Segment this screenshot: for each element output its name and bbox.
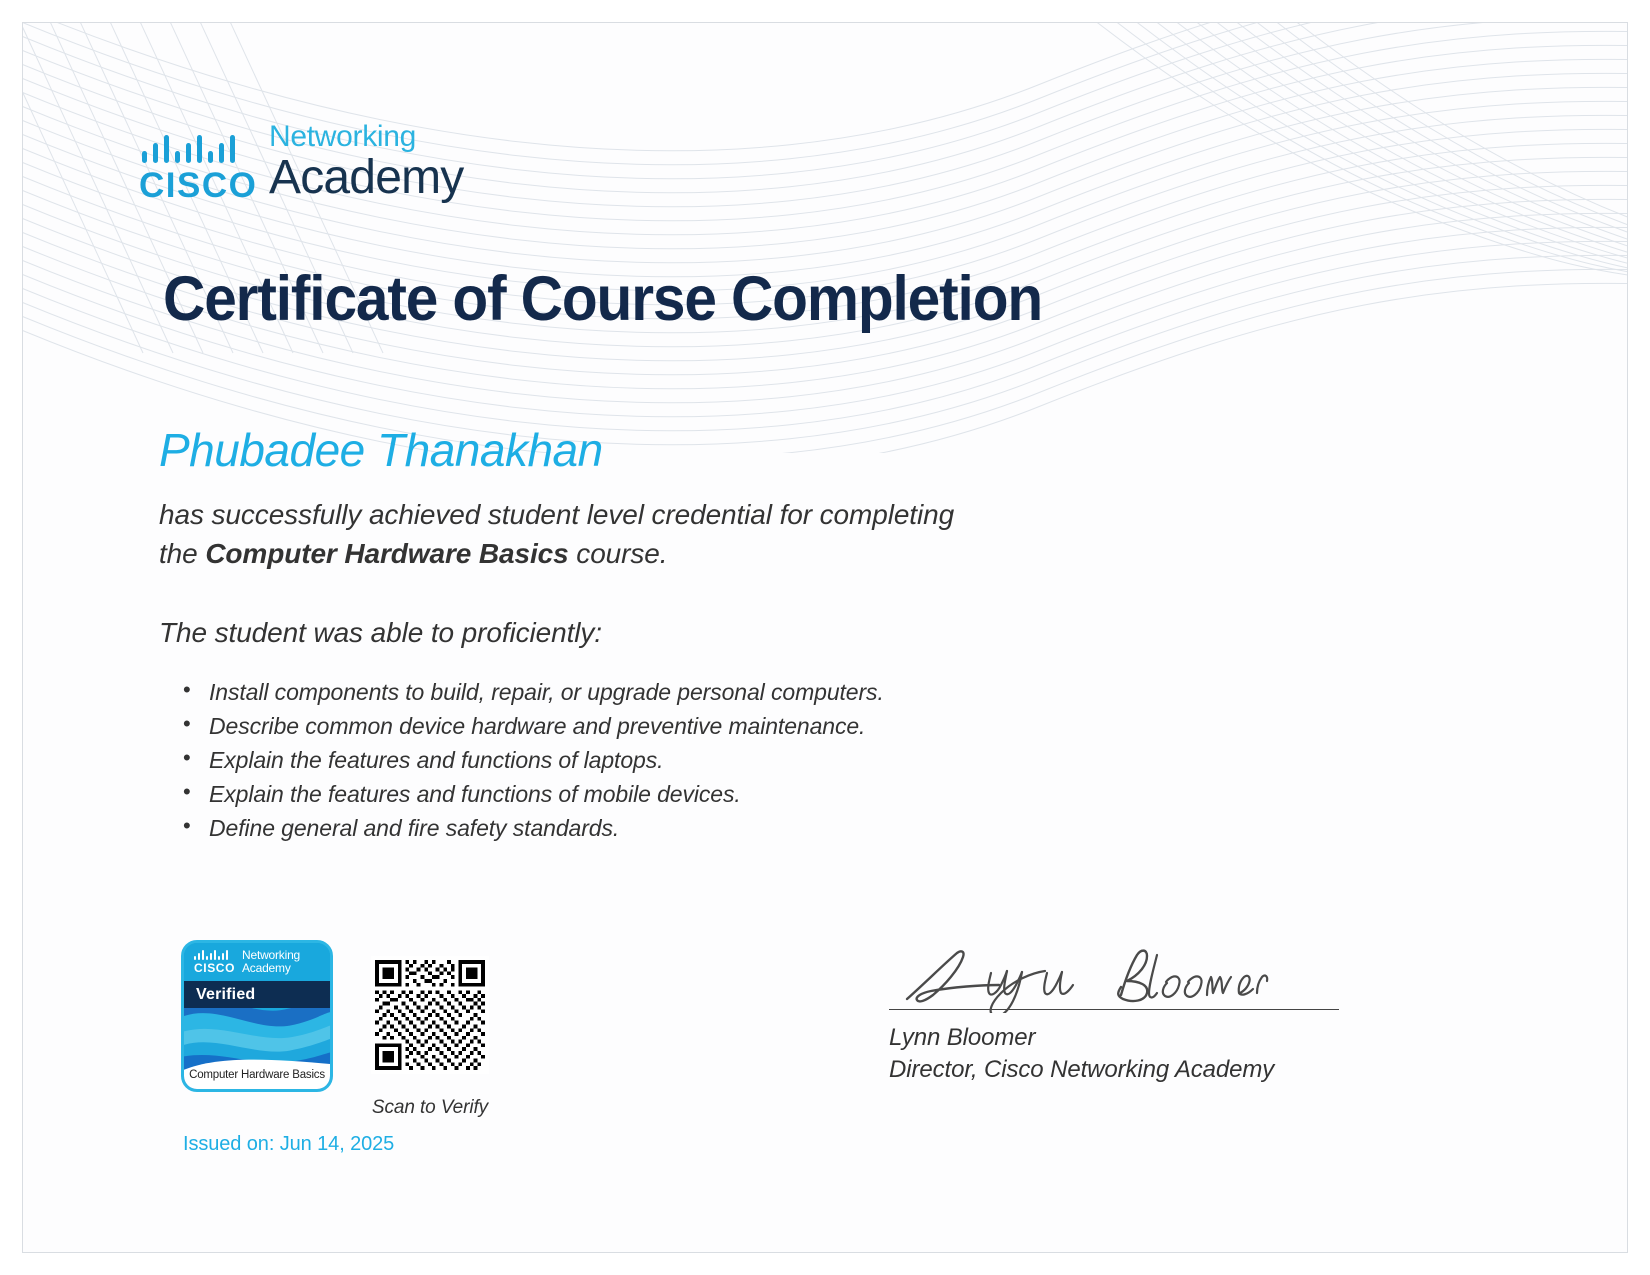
- list-item: Define general and fire safety standards…: [181, 811, 1259, 845]
- certificate-page: CISCO Networking Academy Certificate of …: [0, 0, 1650, 1275]
- achievement-line-2: the Computer Hardware Basics course.: [159, 535, 1259, 574]
- badge-academy-label: Academy: [242, 962, 300, 975]
- signatory-name: Lynn Bloomer: [889, 1024, 1339, 1052]
- signature-block: Lynn Bloomer Director, Cisco Networking …: [889, 943, 1339, 1084]
- list-item: Explain the features and functions of mo…: [181, 777, 1259, 811]
- scan-to-verify-label: Scan to Verify: [371, 1097, 489, 1119]
- certificate-frame: CISCO Networking Academy Certificate of …: [22, 22, 1628, 1253]
- handwritten-signature: [895, 943, 1295, 1013]
- badge-cisco-bars-icon: [194, 950, 236, 960]
- decorative-swoosh-lines: [23, 23, 1627, 453]
- course-prefix: the: [159, 538, 205, 569]
- skills-list: Install components to build, repair, or …: [159, 675, 1259, 845]
- signature-rule: [889, 1009, 1339, 1010]
- page-title: Certificate of Course Completion: [163, 263, 1042, 335]
- verified-label: Verified: [196, 986, 255, 1004]
- verified-band: Verified: [184, 981, 330, 1008]
- list-item: Describe common device hardware and prev…: [181, 709, 1259, 743]
- networking-academy-lockup: Networking Academy: [269, 121, 464, 203]
- course-suffix: course.: [569, 538, 668, 569]
- qr-section: Scan to Verify: [371, 956, 489, 1119]
- badge-cisco-wordmark: CISCO: [194, 962, 236, 974]
- badge-academy-lockup: Networking Academy: [242, 949, 300, 975]
- cisco-networking-academy-logo: CISCO Networking Academy: [139, 121, 464, 203]
- qr-code[interactable]: [371, 956, 489, 1074]
- list-item: Explain the features and functions of la…: [181, 743, 1259, 777]
- achievement-line-1: has successfully achieved student level …: [159, 496, 1259, 535]
- networking-label: Networking: [269, 121, 464, 153]
- proficiency-heading: The student was able to proficiently:: [159, 617, 1259, 649]
- list-item: Install components to build, repair, or …: [181, 675, 1259, 709]
- body-text-block: has successfully achieved student level …: [159, 496, 1259, 845]
- course-name: Computer Hardware Basics: [205, 538, 568, 569]
- badge-cisco-logo: CISCO: [194, 950, 236, 974]
- badge-header: CISCO Networking Academy: [184, 943, 330, 981]
- verified-badge: CISCO Networking Academy Verified Comput…: [181, 940, 333, 1092]
- cisco-bars-icon: [139, 133, 251, 163]
- cisco-wordmark: CISCO: [139, 168, 251, 203]
- academy-label: Academy: [269, 153, 464, 203]
- cisco-logo: CISCO: [139, 133, 251, 203]
- badge-course-footer: Computer Hardware Basics: [184, 1055, 330, 1089]
- issued-date: Issued on: Jun 14, 2025: [183, 1133, 394, 1156]
- signatory-role: Director, Cisco Networking Academy: [889, 1056, 1339, 1084]
- recipient-name: Phubadee Thanakhan: [159, 423, 603, 477]
- badge-course-label: Computer Hardware Basics: [189, 1064, 325, 1081]
